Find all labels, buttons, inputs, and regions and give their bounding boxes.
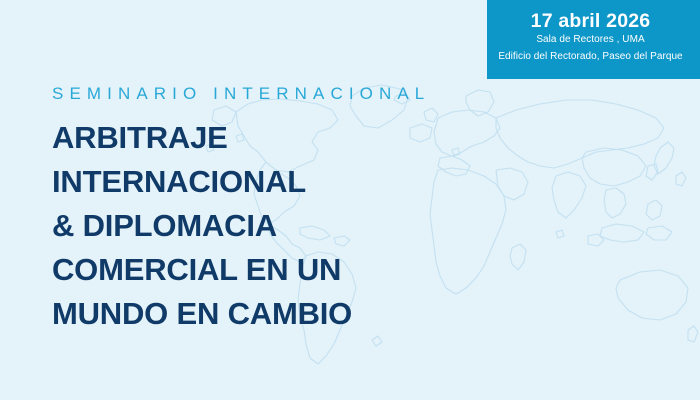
event-kicker: SEMINARIO INTERNACIONAL xyxy=(52,83,482,105)
date-venue-banner: 17 abril 2026 Sala de Rectores , UMA Edi… xyxy=(487,0,700,79)
event-date: 17 abril 2026 xyxy=(495,9,686,33)
event-poster: 17 abril 2026 Sala de Rectores , UMA Edi… xyxy=(0,0,700,400)
event-title: ARBITRAJE INTERNACIONAL & DIPLOMACIA COM… xyxy=(52,116,482,336)
title-line-4: COMERCIAL EN UN xyxy=(52,248,482,292)
title-line-2: INTERNACIONAL xyxy=(52,160,482,204)
title-line-1: ARBITRAJE xyxy=(52,116,482,160)
title-line-5: MUNDO EN CAMBIO xyxy=(52,292,482,336)
event-venue: Edificio del Rectorado, Paseo del Parque xyxy=(495,50,686,64)
title-line-3: & DIPLOMACIA xyxy=(52,204,482,248)
event-room: Sala de Rectores , UMA xyxy=(495,33,686,47)
poster-text-block: SEMINARIO INTERNACIONAL ARBITRAJE INTERN… xyxy=(52,83,482,336)
